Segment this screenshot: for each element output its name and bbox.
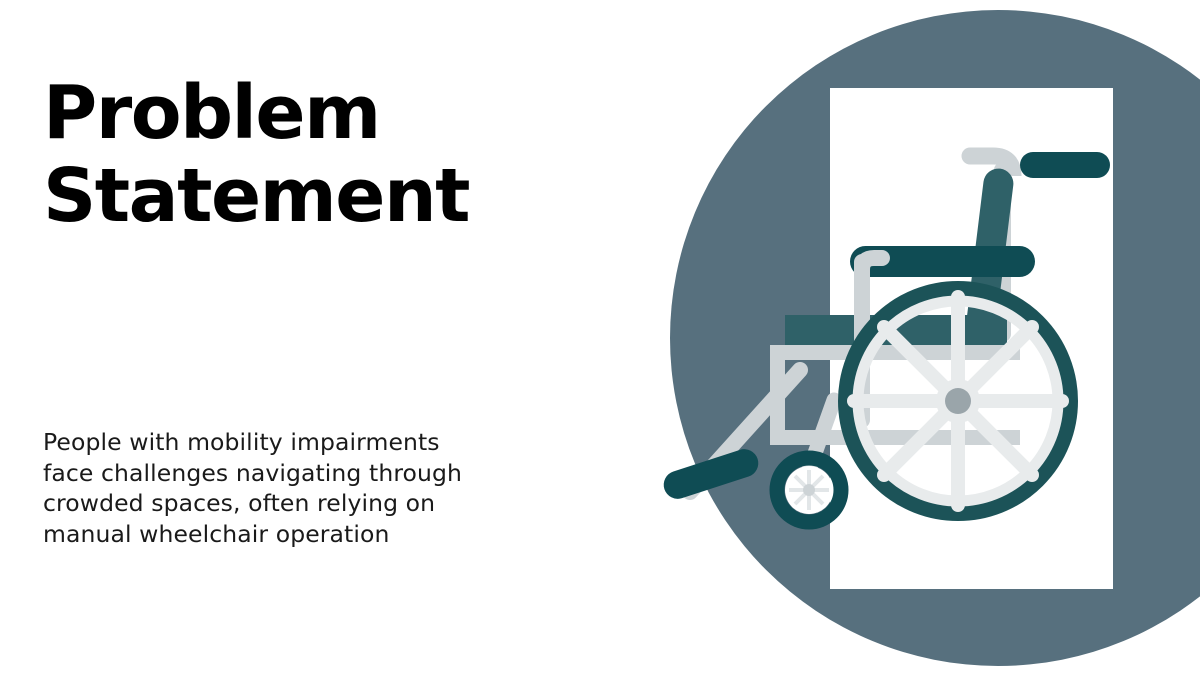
- text-column: Problem Statement People with mobility i…: [43, 0, 523, 675]
- caster-wheel: [777, 458, 841, 522]
- rear-wheel: [846, 289, 1070, 513]
- slide-root: Problem Statement People with mobility i…: [0, 0, 1200, 675]
- problem-description-text: People with mobility impairments face ch…: [43, 427, 483, 549]
- push-handle-grip: [1020, 152, 1110, 178]
- wheelchair-illustration: [620, 0, 1200, 675]
- page-title: Problem Statement: [43, 72, 513, 238]
